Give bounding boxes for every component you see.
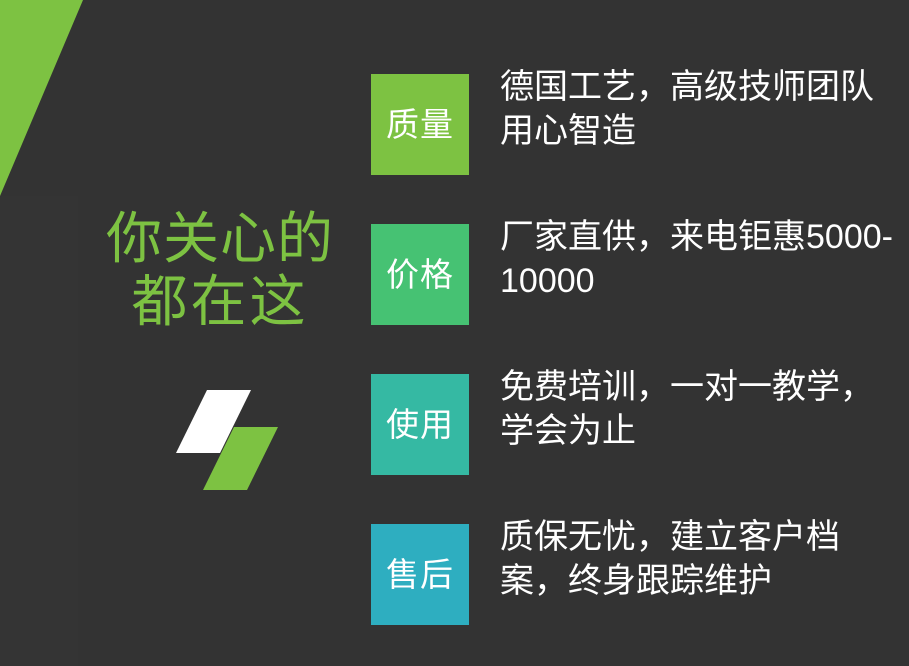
feature-description: 质保无忧，建立客户档案，终身跟踪维护	[500, 516, 895, 603]
page-title-line-1: 你关心的	[60, 208, 380, 271]
feature-badge-label: 价格	[386, 258, 454, 291]
slide-canvas: 你关心的 都在这 质量 德国工艺，高级技师团队用心智造 价格 厂家直供，来电钜惠…	[0, 0, 909, 666]
feature-badge-label: 使用	[386, 408, 454, 441]
feature-badge-quality[interactable]: 质量	[371, 74, 469, 175]
feature-description: 德国工艺，高级技师团队用心智造	[500, 66, 895, 153]
feature-badge-after-sales[interactable]: 售后	[371, 524, 469, 625]
feature-badge-price[interactable]: 价格	[371, 224, 469, 325]
feature-list: 质量 德国工艺，高级技师团队用心智造 价格 厂家直供，来电钜惠5000-1000…	[371, 74, 891, 664]
feature-description: 免费培训，一对一教学，学会为止	[500, 366, 895, 453]
feature-row: 售后 质保无忧，建立客户档案，终身跟踪维护	[371, 524, 891, 664]
feature-row: 价格 厂家直供，来电钜惠5000-10000	[371, 224, 891, 374]
feature-row: 质量 德国工艺，高级技师团队用心智造	[371, 74, 891, 224]
parallelogram-logo-icon	[168, 385, 288, 495]
feature-badge-usage[interactable]: 使用	[371, 374, 469, 475]
feature-badge-label: 售后	[386, 558, 454, 591]
page-title-line-2: 都在这	[60, 271, 380, 334]
page-title: 你关心的 都在这	[60, 208, 380, 333]
green-corner-wedge-icon	[0, 0, 90, 200]
feature-row: 使用 免费培训，一对一教学，学会为止	[371, 374, 891, 524]
feature-description: 厂家直供，来电钜惠5000-10000	[500, 216, 895, 303]
feature-badge-label: 质量	[386, 108, 454, 141]
